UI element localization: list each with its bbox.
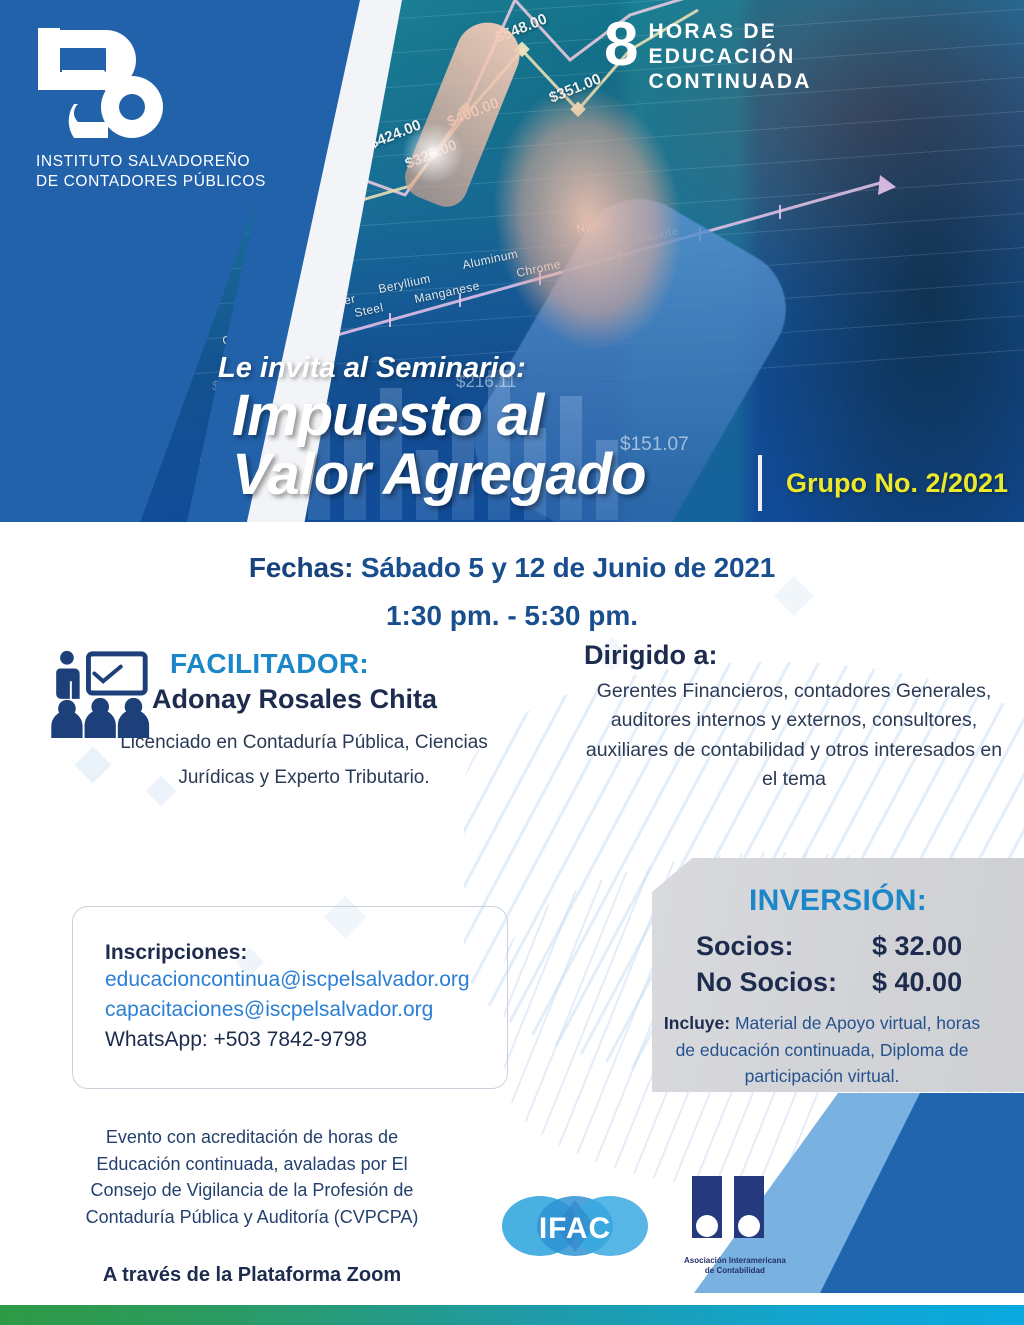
flyer-poster: $424.00 $326.00 $400.00 $548.00 $351.00 …	[0, 0, 1024, 1325]
iscp-logo-mark	[36, 24, 218, 142]
investment-row-price: $ 32.00	[872, 928, 962, 964]
group-badge: Grupo No. 2/2021	[786, 468, 1008, 499]
facilitator-credentials-line2: Jurídicas y Experto Tributario.	[44, 760, 564, 795]
hours-badge-line3: CONTINUADA	[648, 70, 811, 95]
presenter-icon	[44, 648, 174, 738]
seminar-title-line2: Valor Agregado	[232, 445, 646, 504]
registration-email-2[interactable]: capacitaciones@iscpelsalvador.org	[105, 995, 507, 1025]
investment-heading: INVERSIÓN:	[652, 858, 1024, 918]
audience-block: Dirigido a: Gerentes Financieros, contad…	[584, 640, 1004, 794]
facilitator-name: Adonay Rosales Chita	[152, 684, 564, 715]
investment-includes: Incluye: Material de Apoyo virtual, hora…	[652, 1010, 992, 1090]
organization-name-line1: INSTITUTO SALVADOREÑO	[36, 152, 276, 172]
hours-badge-line2: EDUCACIÓN	[648, 45, 811, 70]
invite-text: Le invita al Seminario:	[218, 352, 526, 385]
investment-row-label: Socios:	[696, 928, 872, 964]
ifac-logo-icon: IFAC	[500, 1180, 650, 1272]
accreditation-text: Evento con acreditación de horas de Educ…	[62, 1124, 442, 1231]
registration-whatsapp[interactable]: WhatsApp: +503 7842-9798	[105, 1025, 507, 1055]
schedule-dates: Fechas: Sábado 5 y 12 de Junio de 2021	[0, 552, 1024, 584]
investment-row-price: $ 40.00	[872, 964, 962, 1000]
investment-row: Socios: $ 32.00	[696, 928, 1024, 964]
facilitator-block: FACILITADOR: Adonay Rosales Chita Licenc…	[44, 648, 564, 795]
investment-row: No Socios: $ 40.00	[696, 964, 1024, 1000]
registration-heading: Inscripciones:	[105, 941, 507, 965]
svg-text:IFAC: IFAC	[539, 1212, 611, 1245]
investment-includes-label: Incluye:	[664, 1013, 730, 1033]
aic-logo-icon	[684, 1176, 772, 1248]
registration-email-1[interactable]: educacioncontinua@iscpelsalvador.org	[105, 965, 507, 995]
seminar-title-line1: Impuesto al	[232, 386, 646, 445]
seminar-title: Impuesto al Valor Agregado	[232, 386, 646, 504]
partner-logos: IFAC Asociación Interamericana de Contab…	[500, 1176, 786, 1276]
organization-name: INSTITUTO SALVADOREÑO DE CONTADORES PÚBL…	[36, 152, 276, 192]
hero-touch-sparkle	[398, 118, 468, 188]
audience-text: Gerentes Financieros, contadores General…	[584, 677, 1004, 794]
hours-badge-text: HORAS DE EDUCACIÓN CONTINUADA	[648, 16, 811, 94]
schedule-time: 1:30 pm. - 5:30 pm.	[0, 600, 1024, 632]
hours-badge: 8 HORAS DE EDUCACIÓN CONTINUADA	[604, 16, 812, 94]
aic-logo-caption: Asociación Interamericana de Contabilida…	[684, 1256, 786, 1276]
facilitator-heading: FACILITADOR:	[170, 648, 564, 680]
hours-badge-number: 8	[604, 16, 636, 73]
schedule-dates-label: Fechas:	[249, 552, 353, 583]
audience-heading: Dirigido a:	[584, 640, 1004, 671]
schedule-dates-value: Sábado 5 y 12 de Junio de 2021	[361, 552, 775, 583]
aic-caption-line2: de Contabilidad	[684, 1266, 786, 1276]
platform-text: A través de la Plataforma Zoom	[62, 1264, 442, 1287]
organization-name-line2: DE CONTADORES PÚBLICOS	[36, 172, 276, 192]
schedule-block: Fechas: Sábado 5 y 12 de Junio de 2021 1…	[0, 552, 1024, 632]
registration-box: Inscripciones: educacioncontinua@iscpels…	[72, 906, 508, 1089]
footer-gradient-bar	[0, 1305, 1024, 1325]
aic-logo: Asociación Interamericana de Contabilida…	[684, 1176, 786, 1276]
investment-row-label: No Socios:	[696, 964, 872, 1000]
aic-caption-line1: Asociación Interamericana	[684, 1256, 786, 1266]
group-badge-divider	[758, 455, 762, 511]
hours-badge-line1: HORAS DE	[648, 20, 811, 45]
organization-logo: INSTITUTO SALVADOREÑO DE CONTADORES PÚBL…	[36, 24, 276, 192]
investment-rows: Socios: $ 32.00 No Socios: $ 40.00	[696, 928, 1024, 1000]
